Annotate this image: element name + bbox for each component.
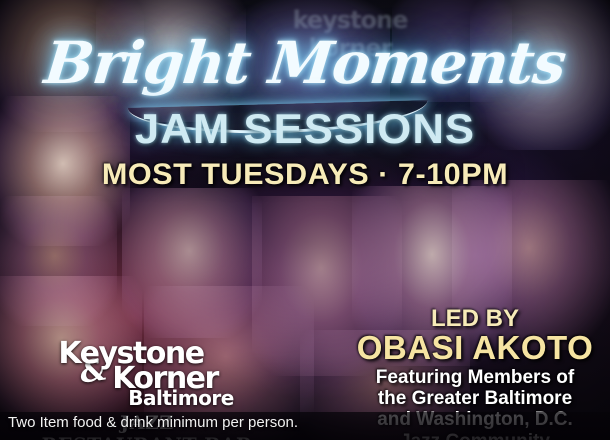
page-title-block: JAM SESSIONS (0, 108, 610, 150)
led-by-label: LED BY (350, 306, 600, 331)
page-title-script: Bright Moments (0, 34, 610, 92)
schedule-text: MOST TUESDAYS · 7-10PM (0, 160, 610, 190)
featuring-line-2: the Greater Baltimore (350, 388, 600, 409)
logo-word-baltimore: Baltimore (50, 389, 312, 407)
disclaimer-text: Two Item food & drink minimum per person… (0, 414, 306, 431)
jam-session-flyer: keystone korner Bright Moments JAM SESSI… (0, 0, 610, 440)
host-name: OBASI AKOTO (350, 331, 600, 365)
featuring-line-1: Featuring Members of (350, 367, 600, 388)
